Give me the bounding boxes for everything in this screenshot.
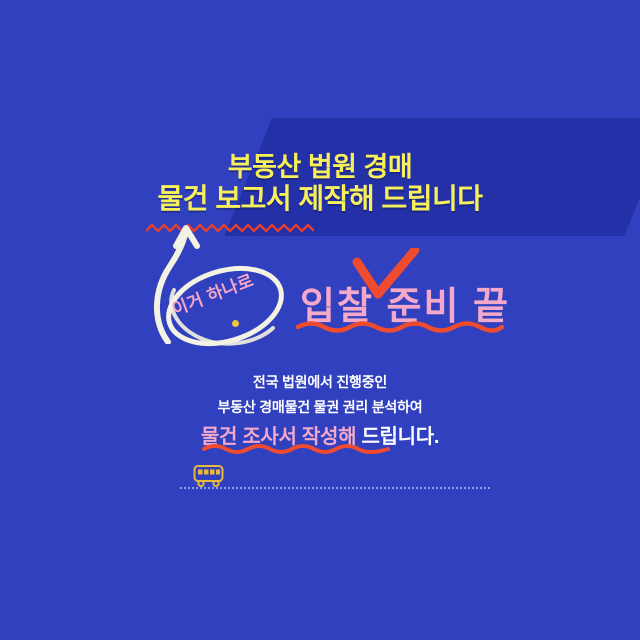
dotted-road-line-icon <box>180 487 490 489</box>
slogan-wave-icon <box>296 318 504 334</box>
page-title: 부동산 법원 경매 물건 보고서 제작해 드립니다 <box>0 152 640 216</box>
headline-line-2: 물건 보고서 제작해 드립니다 <box>0 183 640 215</box>
poster-canvas: 부동산 법원 경매 물건 보고서 제작해 드립니다 이거 하나로 입찰 준비 끝… <box>0 0 640 640</box>
emphasis-wave-icon <box>202 441 390 455</box>
body-line-1: 전국 법원에서 진행중인 <box>0 370 640 395</box>
headline-line-1: 부동산 법원 경매 <box>0 152 640 183</box>
yellow-dot-icon <box>232 320 239 327</box>
body-line-2: 부동산 경매물건 물권 권리 분석하여 <box>0 395 640 420</box>
body-copy: 전국 법원에서 진행중인 부동산 경매물건 물권 권리 분석하여 <box>0 370 640 419</box>
bus-icon <box>192 463 228 489</box>
